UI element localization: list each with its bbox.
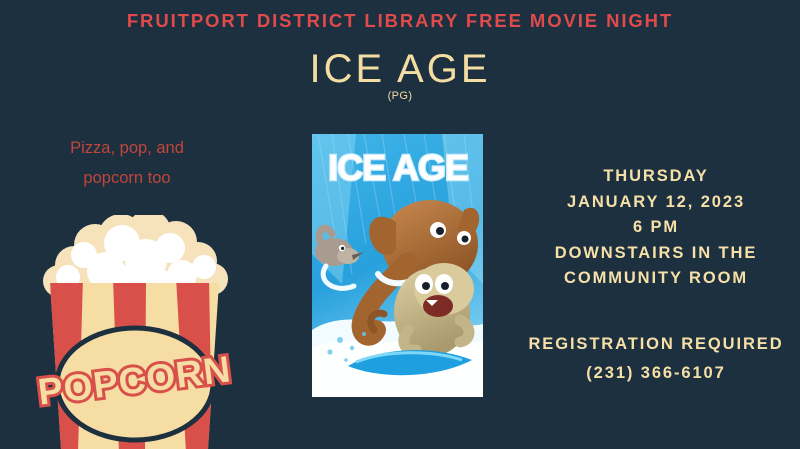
- popcorn-bucket-illustration: POPCORN: [22, 215, 247, 449]
- movie-night-flyer: FRUITPORT DISTRICT LIBRARY FREE MOVIE NI…: [0, 0, 800, 449]
- event-detail-line-4: DOWNSTAIRS IN THE: [512, 241, 800, 267]
- poster-logo-text: ICE AGE: [328, 147, 468, 188]
- snack-note: Pizza, pop, and popcorn too: [22, 133, 232, 193]
- event-detail-line-5: COMMUNITY ROOM: [512, 266, 800, 292]
- event-detail-line-1: THURSDAY: [512, 164, 800, 190]
- movie-rating: (PG): [0, 90, 800, 102]
- registration-phone-number[interactable]: (231) 366-6107: [512, 359, 800, 388]
- registration-block: REGISTRATION REQUIRED (231) 366-6107: [512, 330, 800, 388]
- movie-title: ICE AGE: [0, 47, 800, 92]
- event-details-block: THURSDAY JANUARY 12, 2023 6 PM DOWNSTAIR…: [512, 164, 800, 292]
- flyer-header-banner: FRUITPORT DISTRICT LIBRARY FREE MOVIE NI…: [0, 10, 800, 32]
- event-detail-line-2: JANUARY 12, 2023: [512, 190, 800, 216]
- ice-age-movie-poster: ICE AGE: [312, 134, 483, 397]
- snack-note-line-2: popcorn too: [22, 163, 232, 193]
- event-detail-line-3: 6 PM: [512, 215, 800, 241]
- snack-note-line-1: Pizza, pop, and: [22, 133, 232, 163]
- registration-notice: REGISTRATION REQUIRED: [512, 330, 800, 359]
